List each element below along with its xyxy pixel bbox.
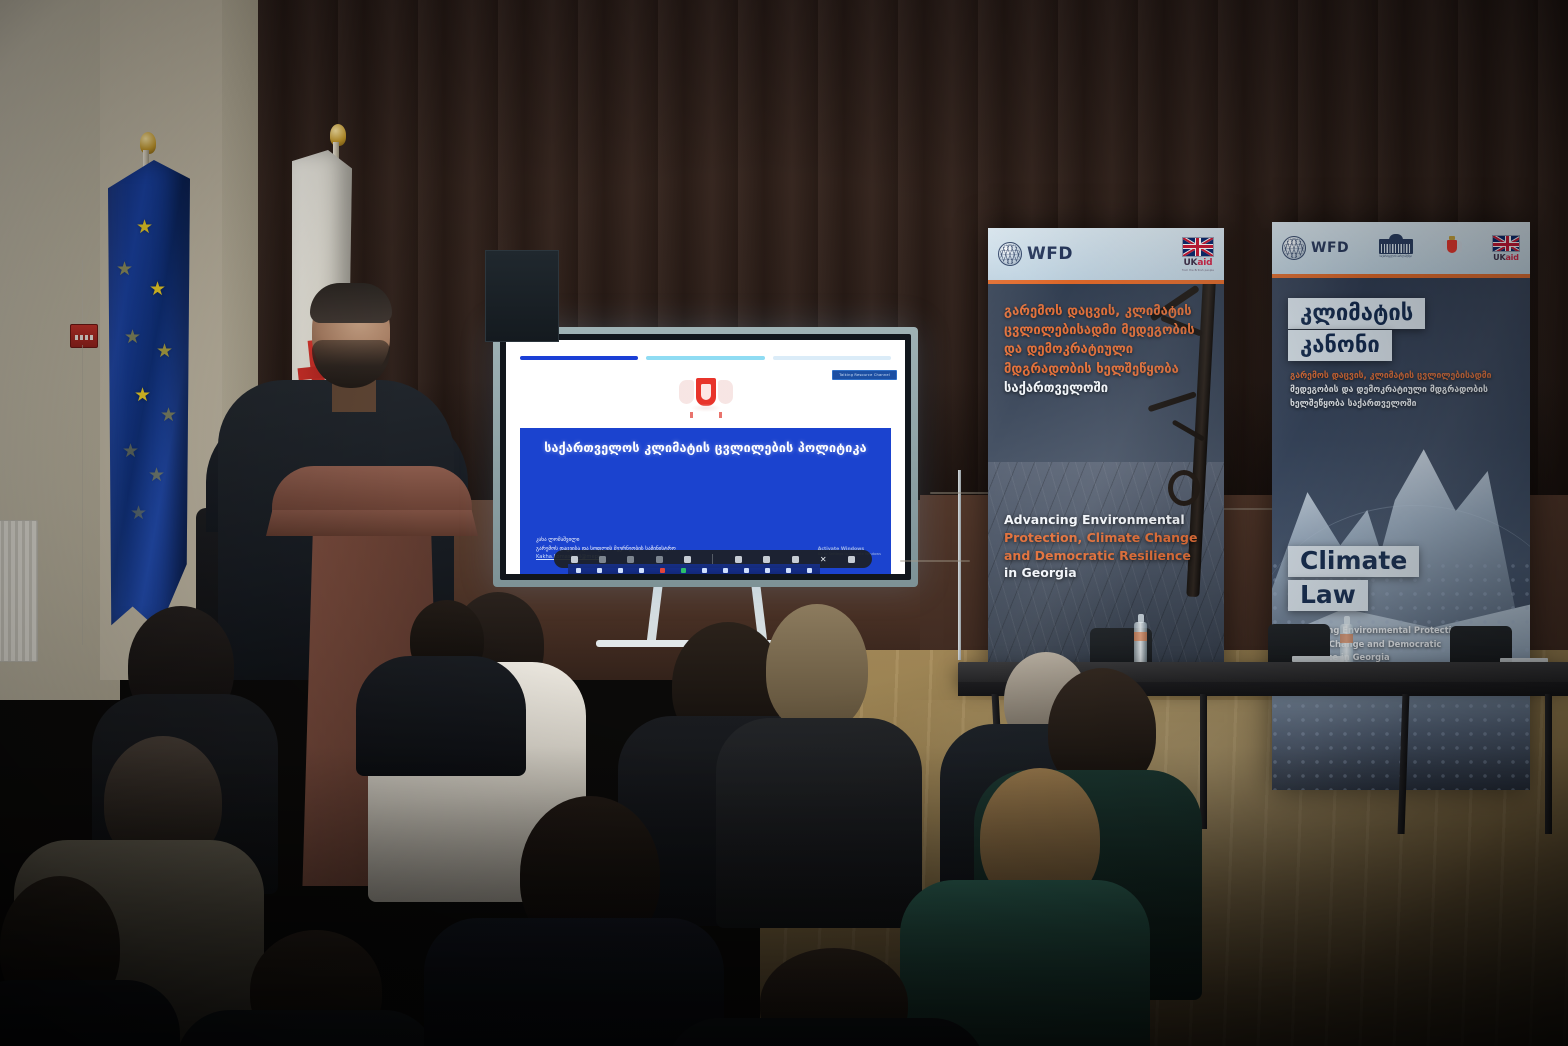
more-options-icon[interactable] <box>848 556 855 563</box>
undo-icon[interactable] <box>627 556 634 563</box>
banner-wfd-ukaid: WFD UKaid from the British people გარემო… <box>988 228 1224 678</box>
toolbar-divider <box>712 554 713 564</box>
subtitle-ka-line2: მედეგობის და დემოკრატიული მდგრადობის <box>1290 385 1488 395</box>
speaker-hair <box>310 283 392 323</box>
union-jack-icon <box>1182 237 1214 257</box>
share-app-icon[interactable] <box>571 556 578 563</box>
wfd-logo: WFD <box>998 242 1073 266</box>
banner-right-title-en-line1: Climate <box>1288 546 1419 577</box>
table-leg <box>1545 694 1552 834</box>
people-icon[interactable] <box>639 568 644 573</box>
subtitle-ka-line1: გარემოს დაცვის, კლიმატის ცვლილებისადმი <box>1290 371 1492 381</box>
coa-crown <box>1449 236 1455 240</box>
alarm-wire-upper <box>82 260 83 330</box>
coa-accent-right <box>719 412 722 418</box>
ukaid-logo: UKaid from the British people <box>1182 237 1214 272</box>
parliament-logo: საქართველოს პარლამენტი <box>1379 239 1413 258</box>
headline-en-line3: and Democratic Resilience <box>1004 548 1191 563</box>
headline-en-line2: Protection, Climate Change <box>1004 530 1197 545</box>
eu-star: ★ <box>130 504 147 523</box>
banner-left-headline-ka: გარემოს დაცვის, კლიმატის ცვლილებისადმი მ… <box>1004 302 1210 398</box>
apps-icon[interactable] <box>786 568 791 573</box>
floor-cable-3 <box>900 560 970 562</box>
banner-right-title-ka-line1: კლიმატის <box>1288 298 1425 329</box>
presentation-screen[interactable]: Talking Resource Channel საქართველოს კლი… <box>506 340 905 574</box>
coa-base <box>691 404 721 412</box>
globe-mesh-icon <box>1282 236 1306 260</box>
eu-star: ★ <box>148 466 165 485</box>
headline-en-line1: Advancing Environmental <box>1004 512 1185 527</box>
headline-ka-line4: მდგრადობის ხელშეწყობა <box>1004 362 1179 377</box>
close-icon[interactable]: ✕ <box>820 556 827 563</box>
banner-right-title-en-line2: Law <box>1288 580 1368 611</box>
headline-en-line4: in Georgia <box>1004 565 1077 580</box>
water-bottle <box>1134 622 1147 666</box>
stage-speaker-box <box>485 250 559 342</box>
banner-left-logo-bar: WFD UKaid from the British people <box>988 228 1224 280</box>
headline-ka-line3: და დემოკრატიული <box>1004 342 1133 357</box>
coa-shield <box>696 378 716 406</box>
redo-icon[interactable] <box>656 556 663 563</box>
mic-stand <box>958 470 961 660</box>
eu-star: ★ <box>134 386 151 405</box>
coat-of-arms-icon <box>678 374 734 422</box>
coat-of-arms-icon <box>1442 237 1462 259</box>
pause-icon[interactable] <box>702 568 707 573</box>
banner-climate-law: WFD საქართველოს პარლამენტი UKaid <box>1272 222 1530 790</box>
wfd-logo: WFD <box>1282 236 1349 260</box>
microphone-icon[interactable] <box>576 568 581 573</box>
chat-icon[interactable] <box>660 568 665 573</box>
top-right-badge[interactable]: Talking Resource Channel <box>832 370 897 380</box>
progress-segment-last <box>773 356 891 360</box>
coa-accent-left <box>690 412 693 418</box>
slide-speaker-name: კახა ლომაშვილი <box>536 536 676 545</box>
headline-ka-line2: ცვლილებისადმი მედეგობის <box>1004 323 1195 338</box>
progress-segment-active <box>520 356 638 360</box>
banner-right-subtitle-ka: გარემოს დაცვის, კლიმატის ცვლილებისადმი მ… <box>1290 370 1516 411</box>
wfd-wordmark: WFD <box>1311 240 1349 256</box>
save-icon[interactable] <box>763 556 770 563</box>
eu-flag: ★ ★ ★ ★ ★ ★ ★ ★ ★ ★ <box>108 160 190 630</box>
coa-lion-right <box>718 380 733 404</box>
globe-mesh-icon <box>998 242 1022 266</box>
podium-lip <box>266 510 478 536</box>
ukaid-tagline: from the British people <box>1182 269 1214 272</box>
ukaid-wordmark: UKaid <box>1493 253 1519 262</box>
shield-icon[interactable] <box>618 568 623 573</box>
union-jack-icon <box>1492 235 1520 252</box>
camera-icon[interactable] <box>597 568 602 573</box>
progress-segment-next <box>646 356 764 360</box>
banner-left-body: გარემოს დაცვის, კლიმატის ცვლილებისადმი მ… <box>988 284 1224 678</box>
table-leg <box>1200 694 1207 829</box>
eu-star: ★ <box>136 218 153 237</box>
eu-star: ★ <box>160 406 177 425</box>
banner-right-title-ka-line2: კანონი <box>1288 330 1392 361</box>
slide-title: საქართველოს კლიმატის ცვლილების პოლიტიკა <box>520 440 891 455</box>
whiteboard-icon[interactable] <box>599 556 606 563</box>
wfd-wordmark: WFD <box>1027 244 1073 264</box>
subtitle-ka-line3: ხელშეწყობა საქართველოში <box>1290 399 1416 409</box>
conference-photo: ★ ★ ★ ★ ★ ★ ★ ★ ★ ★ Talk <box>0 0 1568 1046</box>
parliament-building-icon <box>1379 239 1413 254</box>
slide-progress-bar <box>520 356 891 360</box>
eu-star: ★ <box>156 342 173 361</box>
radiator <box>0 520 38 662</box>
pencil-icon[interactable] <box>723 568 728 573</box>
parliament-caption: საქართველოს პარლამენტი <box>1380 255 1412 258</box>
coa-lion-right <box>1456 241 1462 253</box>
remote-icon[interactable] <box>765 568 770 573</box>
alarm-wire-lower <box>82 345 83 645</box>
share-screen-icon[interactable] <box>681 568 686 573</box>
ukaid-wordmark: UKaid <box>1183 258 1212 268</box>
banner-left-headline-en: Advancing Environmental Protection, Clim… <box>1004 511 1210 582</box>
coa-shield <box>1447 240 1457 253</box>
eu-star: ★ <box>122 442 139 461</box>
pointer-icon[interactable] <box>684 556 691 563</box>
eu-star: ★ <box>124 328 141 347</box>
ukaid-logo: UKaid <box>1492 235 1520 262</box>
headline-ka-line1: გარემოს დაცვის, კლიმატის <box>1004 304 1192 319</box>
coa-lion-left <box>679 380 694 404</box>
new-page-icon[interactable] <box>735 556 742 563</box>
headline-ka-line5: საქართველოში <box>1004 381 1108 396</box>
eu-star: ★ <box>149 280 166 299</box>
sparkle-icon[interactable] <box>744 568 749 573</box>
fire-alarm-icon <box>70 324 98 348</box>
banner-right-logo-bar: WFD საქართველოს პარლამენტი UKaid <box>1272 222 1530 274</box>
settings-icon[interactable] <box>792 556 799 563</box>
ellipsis-icon[interactable] <box>807 568 812 573</box>
conference-controls-bar[interactable] <box>568 564 820 574</box>
slide-body: საქართველოს კლიმატის ცვლილების პოლიტიკა … <box>520 428 891 574</box>
eu-star: ★ <box>116 260 133 279</box>
